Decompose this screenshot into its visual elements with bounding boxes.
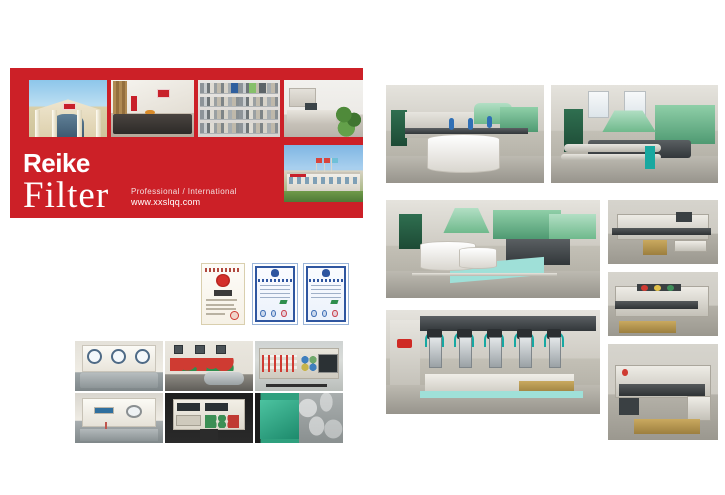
brand-name-reike: Reike bbox=[23, 150, 109, 176]
production-photo-drying-oven-line bbox=[551, 85, 718, 183]
banner-photo-showroom-office bbox=[284, 80, 363, 137]
lab-photo-filter-performance-tester bbox=[165, 393, 253, 443]
banner-photo-sample-display-shelves bbox=[198, 80, 280, 137]
brand-logo: Reike Filter bbox=[23, 150, 109, 215]
brand-name-filter: Filter bbox=[23, 177, 109, 215]
national-emblem-seal-icon bbox=[216, 274, 229, 287]
facade-signboard-icon bbox=[63, 103, 75, 110]
lab-photo-main-control-console bbox=[255, 341, 343, 391]
lab-photo-pressure-gauge-test-bench bbox=[75, 341, 163, 391]
production-photo-creasing-folding-machine bbox=[608, 344, 718, 440]
lab-photo-switch-control-panel bbox=[165, 341, 253, 391]
emergency-stop-button-icon bbox=[397, 339, 412, 348]
production-photo-nonwoven-production-line bbox=[386, 200, 600, 298]
lab-photo-filter-media-sample bbox=[255, 393, 343, 443]
certificate-emblem-icon bbox=[322, 269, 331, 277]
certificate-iso-2 bbox=[303, 263, 349, 325]
certificate-emblem-icon bbox=[271, 269, 280, 277]
certificates-group bbox=[201, 263, 349, 325]
banner-photo-factory-exterior bbox=[284, 145, 363, 202]
wall-plaque-icon bbox=[157, 89, 170, 98]
production-photo-pneumatic-press-station bbox=[386, 310, 600, 414]
certificate-business-license bbox=[201, 263, 245, 325]
brand-tagline: Professional / International bbox=[131, 186, 237, 197]
lab-equipment-grid bbox=[75, 341, 343, 443]
production-photo-roll-winding-machine bbox=[386, 85, 544, 183]
banner-photo-company-building-facade bbox=[29, 80, 107, 137]
production-photo-paper-cutting-machine bbox=[608, 200, 718, 264]
brand-tagline-block: Professional / International www.xxslqq.… bbox=[131, 186, 237, 208]
certificate-iso-1 bbox=[252, 263, 298, 325]
banner-photo-meeting-room bbox=[111, 80, 194, 137]
red-chop-stamp-icon bbox=[230, 311, 239, 321]
lab-photo-digital-meter-test-rig bbox=[75, 393, 163, 443]
brochure-page: Reike Filter Professional / Internationa… bbox=[0, 0, 725, 495]
production-photo-pleating-machine bbox=[608, 272, 718, 336]
brand-website[interactable]: www.xxslqq.com bbox=[131, 197, 237, 208]
